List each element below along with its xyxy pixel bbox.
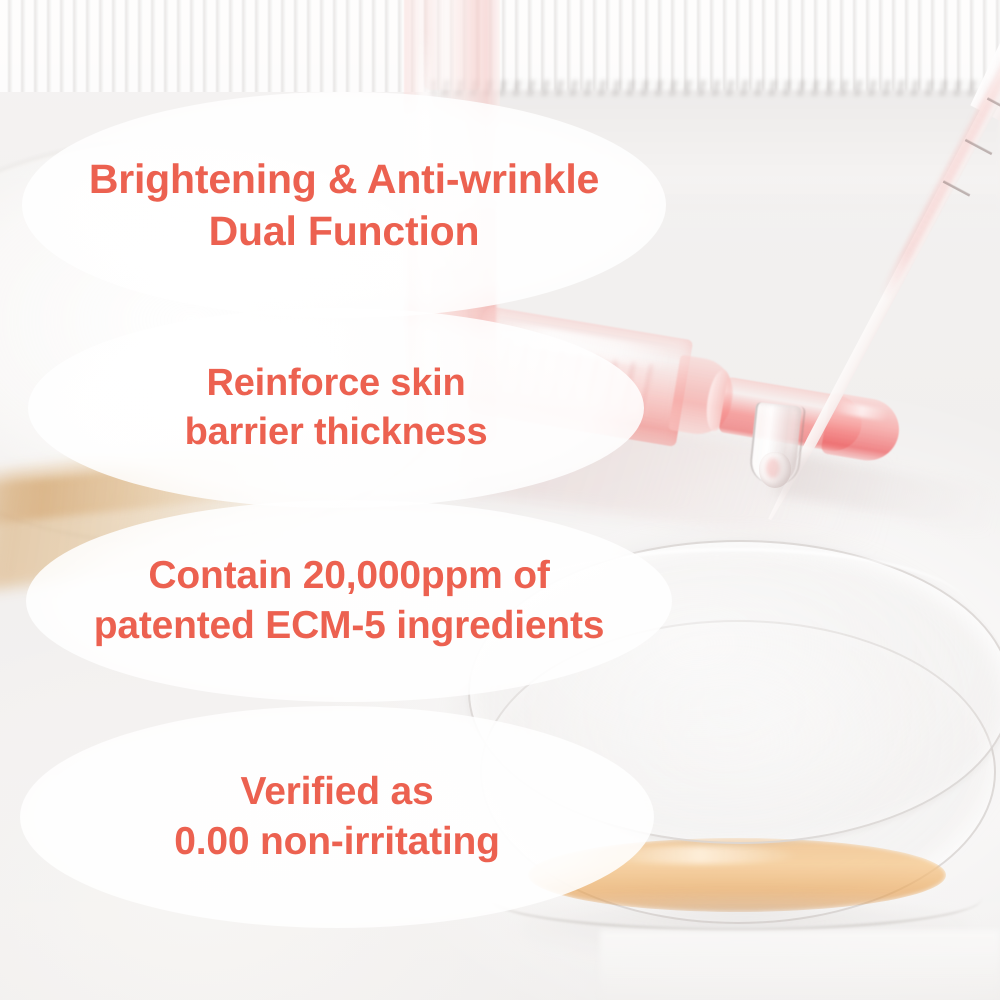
ribbed-backdrop [0,0,1000,92]
benefit-panel-non-irritating: Verified as 0.00 non-irritating [20,706,654,928]
benefit-text-dual-function: Brightening & Anti-wrinkle Dual Function [89,153,599,258]
benefit-text-skin-barrier: Reinforce skin barrier thickness [185,359,488,456]
infographic-canvas: Brightening & Anti-wrinkle Dual Function… [0,0,1000,1000]
benefit-text-ingredients: Contain 20,000ppm of patented ECM-5 ingr… [94,551,605,651]
benefit-text-non-irritating: Verified as 0.00 non-irritating [174,767,500,867]
standing-ampoule-neck [424,0,480,90]
cloth-surface [600,930,1000,1000]
benefit-panel-skin-barrier: Reinforce skin barrier thickness [28,308,644,508]
benefit-panel-ingredients: Contain 20,000ppm of patented ECM-5 ingr… [26,500,672,702]
benefit-panel-dual-function: Brightening & Anti-wrinkle Dual Function [22,92,666,318]
backdrop-shadow [430,80,1000,96]
